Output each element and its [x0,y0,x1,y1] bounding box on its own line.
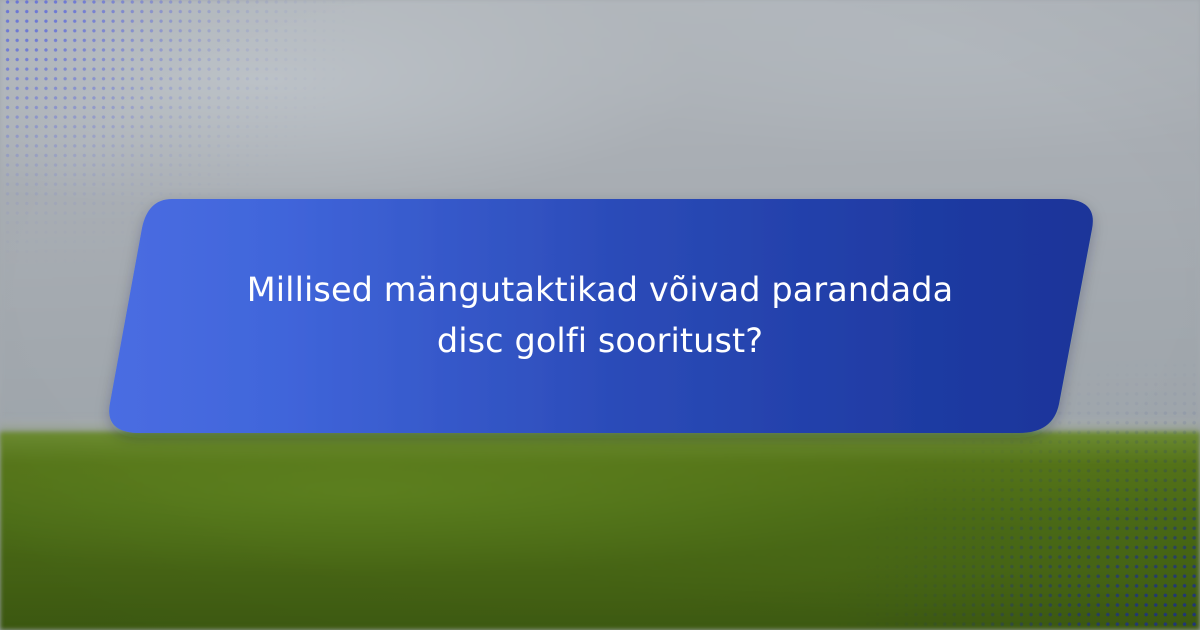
poster-canvas: Millised mängutaktikad võivad parandada … [0,0,1200,630]
question-headline-line-1: Millised mängutaktikad võivad parandada [247,265,953,316]
question-headline-line-2: disc golfi sooritust? [437,316,763,367]
question-headline: Millised mängutaktikad võivad parandada … [0,199,1200,433]
